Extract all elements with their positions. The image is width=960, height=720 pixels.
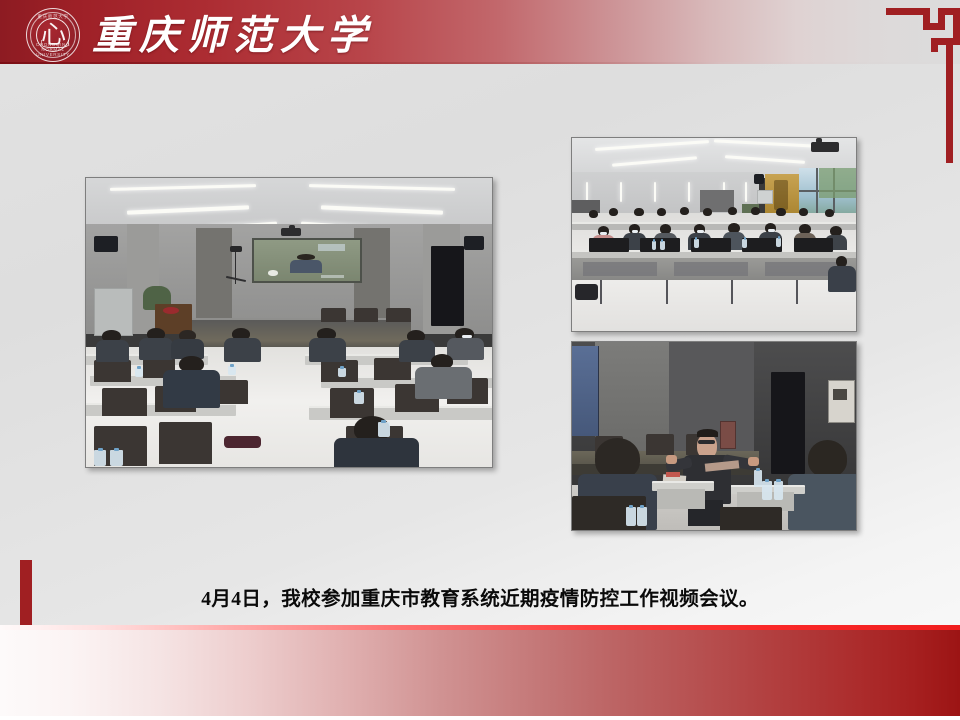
university-name-title: 重庆师范大学 xyxy=(92,6,374,58)
corner-ornament-top-right-icon xyxy=(886,8,960,163)
caption-area: 4月4日，我校参加重庆市教育系统近期疫情防控工作视频会议。 xyxy=(0,560,960,626)
presentation-slide: 重庆师范大学 心 CHONGQING NORMAL UNIVERSITY 重庆师… xyxy=(0,0,960,720)
seal-arc-bottom-text: CHONGQING NORMAL UNIVERSITY xyxy=(27,42,79,57)
conference-room-video-meeting-photo xyxy=(85,177,493,468)
footer-band xyxy=(0,625,960,716)
speaker-addressing-meeting-photo xyxy=(571,341,857,531)
footer-baseline xyxy=(0,716,960,720)
lecture-hall-attendees-photo xyxy=(571,137,857,332)
university-seal-icon: 重庆师范大学 心 CHONGQING NORMAL UNIVERSITY xyxy=(26,8,80,62)
slide-caption-text: 4月4日，我校参加重庆市教育系统近期疫情防控工作视频会议。 xyxy=(0,582,960,611)
header-band: 重庆师范大学 心 CHONGQING NORMAL UNIVERSITY 重庆师… xyxy=(0,0,960,64)
footer-highlight-line xyxy=(0,625,960,630)
